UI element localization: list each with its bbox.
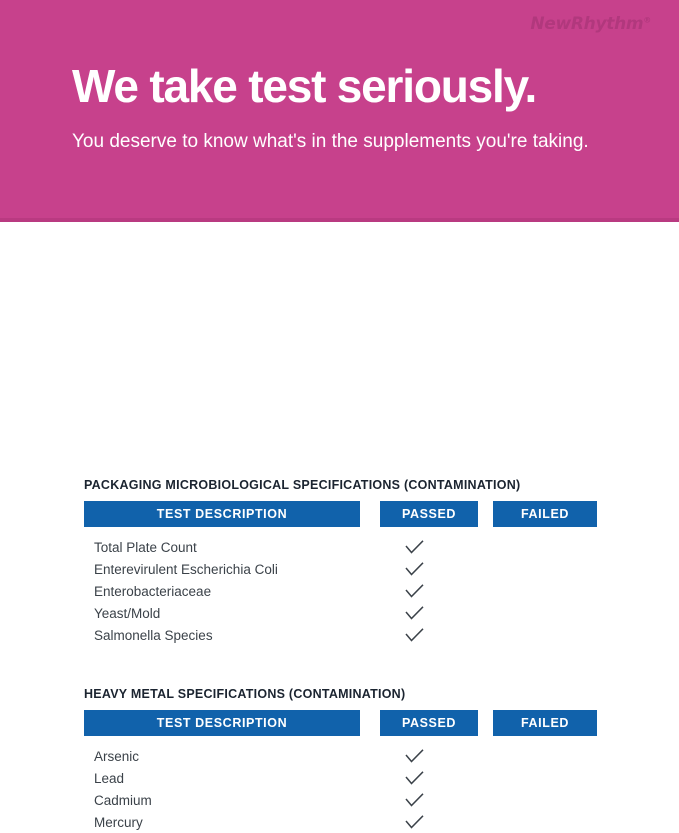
row-test-name: Lead (84, 771, 370, 786)
table-row: Yeast/Mold (84, 602, 604, 624)
section-title: PACKAGING MICROBIOLOGICAL SPECIFICATIONS… (84, 478, 604, 492)
row-passed-cell (370, 584, 458, 599)
table-row: Arsenic (84, 745, 604, 767)
row-passed-cell (370, 540, 458, 555)
section-title: HEAVY METAL SPECIFICATIONS (CONTAMINATIO… (84, 687, 604, 701)
header-spacer (360, 710, 380, 736)
row-passed-cell (370, 793, 458, 808)
table-row: Mercury (84, 811, 604, 833)
row-test-name: Cadmium (84, 793, 370, 808)
row-passed-cell (370, 771, 458, 786)
check-icon (405, 815, 424, 830)
column-header-failed: FAILED (493, 501, 597, 527)
check-icon (405, 749, 424, 764)
table-row: Total Plate Count (84, 536, 604, 558)
table-row: Enterevirulent Escherichia Coli (84, 558, 604, 580)
check-icon (405, 771, 424, 786)
check-icon (405, 584, 424, 599)
trademark-symbol: ® (643, 15, 651, 24)
table-header-row: TEST DESCRIPTION PASSED FAILED (84, 710, 604, 736)
table-row: Enterobacteriaceae (84, 580, 604, 602)
check-icon (405, 606, 424, 621)
row-passed-cell (370, 628, 458, 643)
row-test-name: Salmonella Species (84, 628, 370, 643)
column-header-passed: PASSED (380, 501, 478, 527)
table-row: Cadmium (84, 789, 604, 811)
row-test-name: Total Plate Count (84, 540, 370, 555)
page-title: We take test seriously. (72, 62, 536, 110)
row-passed-cell (370, 815, 458, 830)
column-header-description: TEST DESCRIPTION (84, 710, 360, 736)
table-row: Salmonella Species (84, 624, 604, 646)
column-header-passed: PASSED (380, 710, 478, 736)
column-header-failed: FAILED (493, 710, 597, 736)
header-spacer (360, 501, 380, 527)
check-icon (405, 540, 424, 555)
row-test-name: Mercury (84, 815, 370, 830)
brand-logo-text: NewRhythm (530, 14, 643, 34)
row-passed-cell (370, 749, 458, 764)
column-header-description: TEST DESCRIPTION (84, 501, 360, 527)
check-icon (405, 562, 424, 577)
table-body: Total Plate Count Enterevirulent Escheri… (84, 536, 604, 646)
table-body: Arsenic Lead Cadmium (84, 745, 604, 833)
row-test-name: Arsenic (84, 749, 370, 764)
row-test-name: Enterevirulent Escherichia Coli (84, 562, 370, 577)
hero-banner: NewRhythm® We take test seriously. You d… (0, 0, 679, 222)
row-test-name: Enterobacteriaceae (84, 584, 370, 599)
table-row: Lead (84, 767, 604, 789)
page-subtitle: You deserve to know what's in the supple… (72, 128, 612, 156)
header-gap (478, 710, 493, 736)
row-test-name: Yeast/Mold (84, 606, 370, 621)
header-gap (478, 501, 493, 527)
row-passed-cell (370, 606, 458, 621)
section-microbiological: PACKAGING MICROBIOLOGICAL SPECIFICATIONS… (84, 478, 604, 646)
section-heavy-metal: HEAVY METAL SPECIFICATIONS (CONTAMINATIO… (84, 687, 604, 833)
check-icon (405, 793, 424, 808)
brand-logo: NewRhythm® (530, 14, 651, 34)
check-icon (405, 628, 424, 643)
table-header-row: TEST DESCRIPTION PASSED FAILED (84, 501, 604, 527)
row-passed-cell (370, 562, 458, 577)
